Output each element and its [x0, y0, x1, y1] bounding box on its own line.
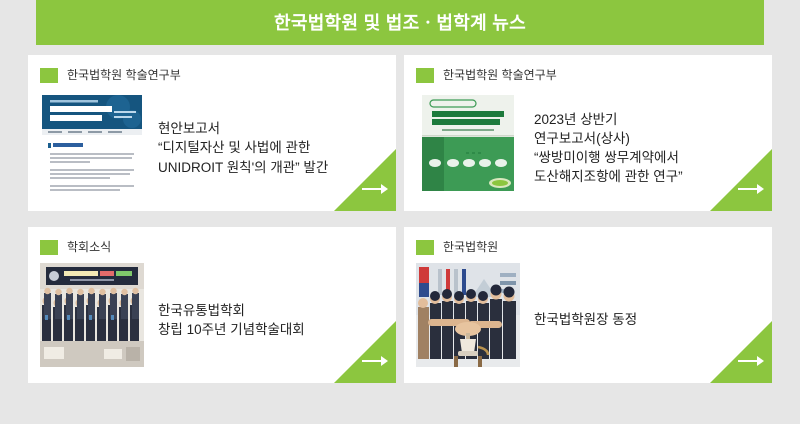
card-line: 현안보고서 [158, 119, 328, 138]
news-card-2[interactable]: 한국법학원 학술연구부 [404, 55, 772, 211]
card-text-3: 한국유통법학회 창립 10주년 기념학술대회 [158, 299, 305, 339]
card-more-link-4[interactable] [710, 321, 772, 383]
arrow-right-icon [362, 183, 388, 195]
category-label: 한국법학원 학술연구부 [67, 69, 181, 81]
corner-triangle [710, 321, 772, 383]
category-marker-icon [40, 68, 58, 83]
category-label: 한국법학원 학술연구부 [443, 69, 557, 81]
category-marker-icon [416, 240, 434, 255]
group-photo-thumbnail[interactable] [40, 263, 144, 367]
card-line: 한국법학원장 동정 [534, 310, 637, 329]
corner-triangle [710, 149, 772, 211]
arrow-right-icon [738, 183, 764, 195]
card-line: 창립 10주년 기념학술대회 [158, 320, 305, 339]
card-more-link-2[interactable] [710, 149, 772, 211]
card-line: 한국유통법학회 [158, 301, 305, 320]
news-card-grid: 한국법학원 학술연구부 [28, 55, 772, 383]
arrow-right-icon [362, 355, 388, 367]
card-more-link-3[interactable] [334, 321, 396, 383]
news-card-4[interactable]: 한국법학원 [404, 227, 772, 383]
card-category-3: 학회소식 [40, 239, 111, 255]
page-title: 한국법학원 및 법조ㆍ법학계 뉴스 [274, 14, 526, 32]
card-text-4: 한국법학원장 동정 [534, 308, 637, 329]
category-marker-icon [416, 68, 434, 83]
news-widget: 한국법학원 및 법조ㆍ법학계 뉴스 한국법학원 학술연구부 [0, 0, 800, 424]
card-line: 도산해지조항에 관한 연구” [534, 167, 683, 186]
card-more-link-1[interactable] [334, 149, 396, 211]
ceremony-photo-thumbnail[interactable] [416, 263, 520, 367]
news-card-1[interactable]: 한국법학원 학술연구부 [28, 55, 396, 211]
category-label: 학회소식 [67, 241, 111, 253]
card-line: 2023년 상반기 [534, 110, 683, 129]
corner-triangle [334, 321, 396, 383]
report-document-thumbnail[interactable] [40, 91, 144, 195]
category-marker-icon [40, 240, 58, 255]
card-category-4: 한국법학원 [416, 239, 498, 255]
card-line: 연구보고서(상사) [534, 129, 683, 148]
card-line: “디지털자산 및 사법에 관한 [158, 138, 328, 157]
arrow-right-icon [738, 355, 764, 367]
green-book-cover-thumbnail[interactable] [416, 91, 520, 195]
card-line: “쌍방미이행 쌍무계약에서 [534, 148, 683, 167]
card-line: UNIDROIT 원칙'의 개관” 발간 [158, 158, 328, 177]
card-category-1: 한국법학원 학술연구부 [40, 67, 181, 83]
category-label: 한국법학원 [443, 241, 498, 253]
corner-triangle [334, 149, 396, 211]
widget-header: 한국법학원 및 법조ㆍ법학계 뉴스 [36, 0, 764, 45]
card-category-2: 한국법학원 학술연구부 [416, 67, 557, 83]
card-text-2: 2023년 상반기 연구보고서(상사) “쌍방미이행 쌍무계약에서 도산해지조항… [534, 108, 683, 187]
card-text-1: 현안보고서 “디지털자산 및 사법에 관한 UNIDROIT 원칙'의 개관” … [158, 117, 328, 176]
news-card-3[interactable]: 학회소식 [28, 227, 396, 383]
